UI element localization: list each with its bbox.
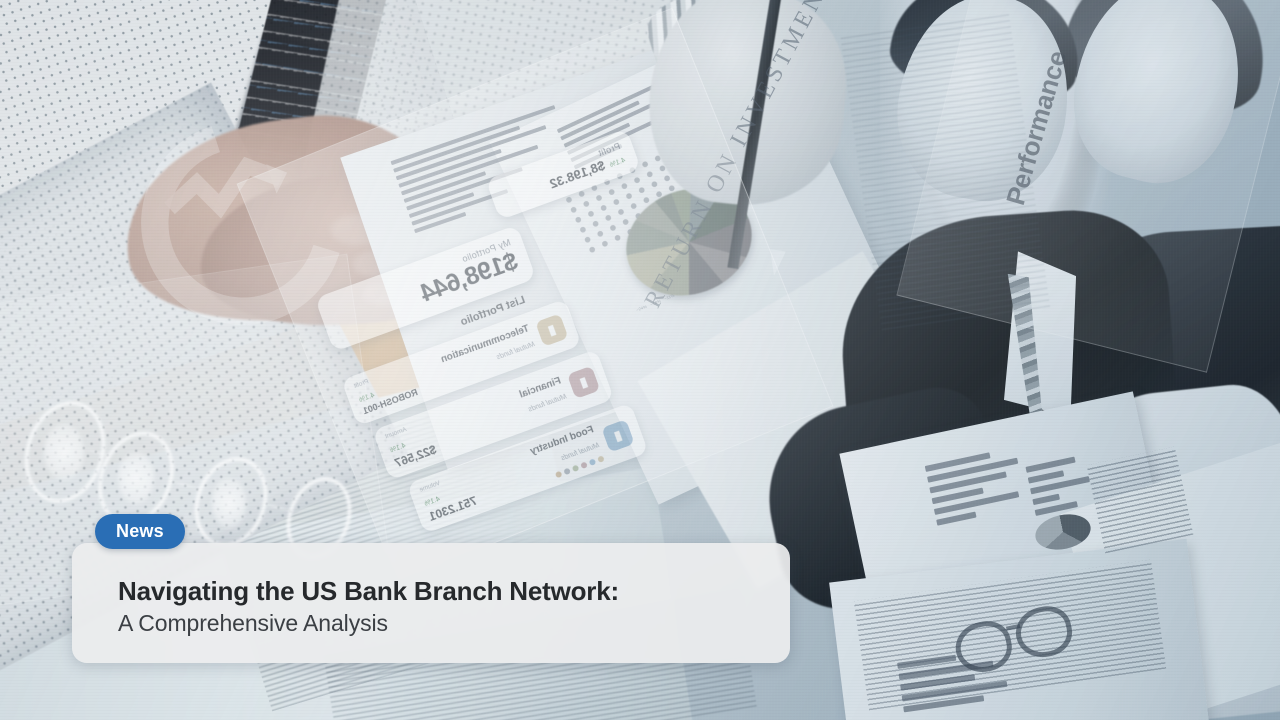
news-banner-image: ~24% ~18% ~11% RETURN ON INVESTMENT Perf… bbox=[0, 0, 1280, 720]
page-title: Navigating the US Bank Branch Network: bbox=[118, 576, 619, 607]
page-subtitle: A Comprehensive Analysis bbox=[118, 610, 388, 637]
news-badge: News bbox=[95, 514, 185, 549]
title-card: Navigating the US Bank Branch Network: A… bbox=[72, 543, 790, 663]
